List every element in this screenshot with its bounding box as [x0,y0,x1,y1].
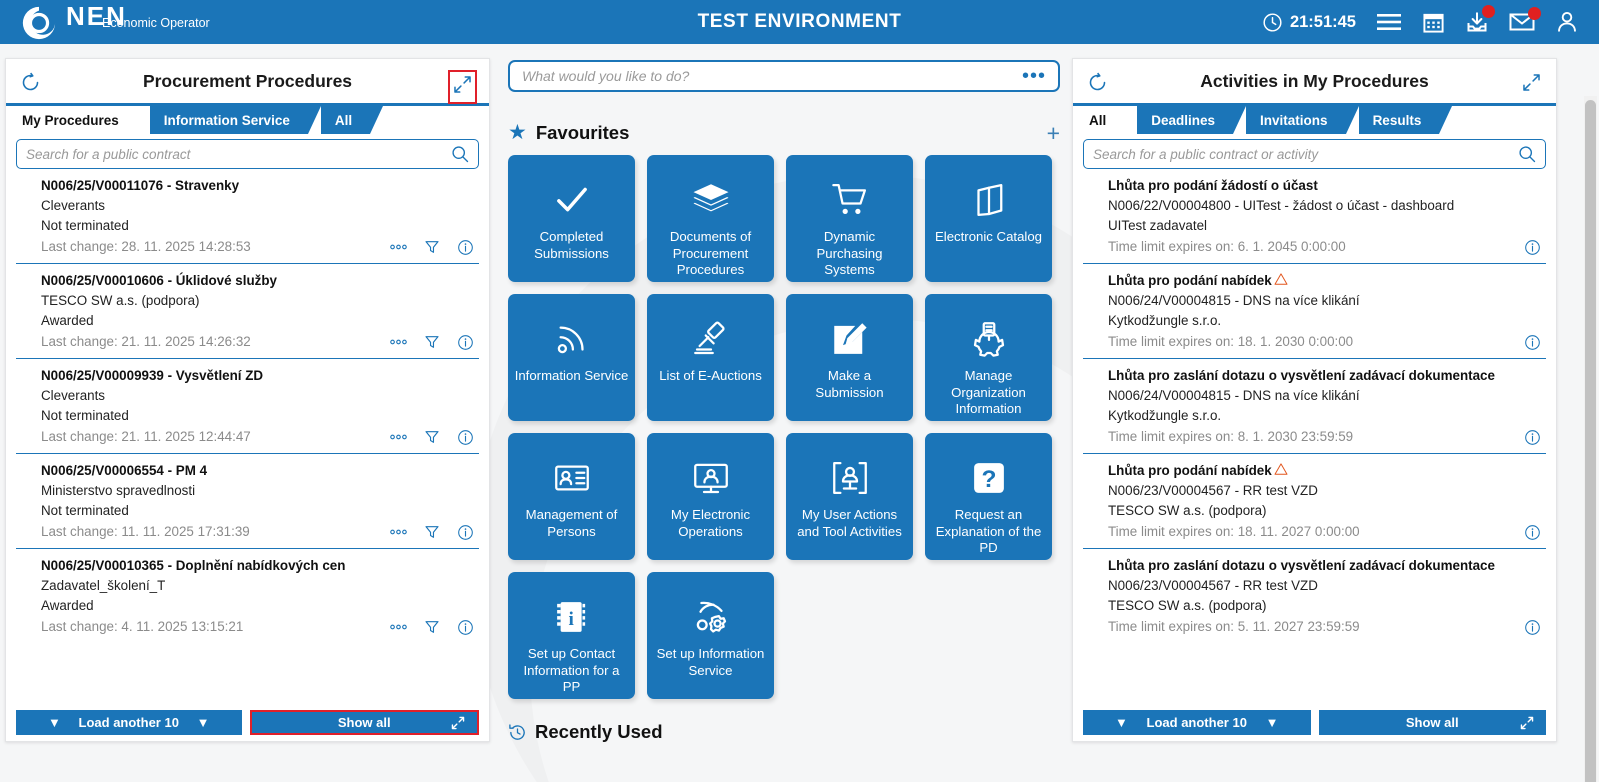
procurement-list-item[interactable]: N006/25/V00006554 - PM 4Ministerstvo spr… [16,454,479,549]
monitor-user-icon [690,455,732,501]
tab-label: My Procedures [22,113,119,128]
recently-used-title: Recently Used [535,721,663,743]
activity-contract: N006/23/V00004567 - RR test VZD [1083,481,1546,501]
refresh-icon [1087,72,1108,93]
activity-title: Lhůta pro zaslání dotazu o vysvětlení za… [1108,558,1495,573]
left-panel-tabs: My Procedures Information Service All [6,106,489,134]
favourite-tile-label: Set up Contact Information for a PP [508,646,635,696]
activity-title-row: Lhůta pro zaslání dotazu o vysvětlení za… [1083,366,1546,386]
row-filter-icon[interactable] [424,429,440,445]
feed-gear-icon [690,594,732,640]
row-more-actions-icon[interactable] [390,337,407,347]
favourite-tile[interactable]: Manage Organization Information [925,294,1052,421]
row-info-icon[interactable] [1524,334,1541,351]
more-options-button[interactable]: ••• [1010,71,1058,81]
show-all-label: Show all [1406,715,1459,730]
procurement-list-item[interactable]: N006/25/V00010606 - Úklidové službyTESCO… [16,264,479,359]
left-search-box[interactable] [16,139,479,169]
user-profile-button[interactable] [1555,10,1579,34]
brand-logo-area[interactable]: NEN Economic Operator [0,0,174,44]
tab-label: Deadlines [1151,113,1215,128]
refresh-button[interactable] [1087,72,1108,98]
activity-title: Lhůta pro podání žádostí o účast [1108,178,1318,193]
tab-all[interactable]: All [1073,106,1124,134]
activity-contract: N006/24/V00004815 - DNS na více klikání [1083,386,1546,406]
procedure-organization: Cleverants [16,196,479,216]
procedure-title: N006/25/V00011076 - Stravenky [16,176,479,196]
rss-feed-icon [551,316,593,362]
favourite-tile[interactable]: My Electronic Operations [647,433,774,560]
right-panel-tabs: All Deadlines Invitations Results [1073,106,1556,134]
favourite-tile-label: Manage Organization Information [925,368,1052,418]
favourite-tile[interactable]: Management of Persons [508,433,635,560]
activity-title: Lhůta pro podání nabídek [1108,273,1272,288]
activity-time-limit: Time limit expires on: 8. 1. 2030 23:59:… [1108,426,1353,448]
favourite-tile-label: List of E-Auctions [653,368,768,385]
procedure-last-change: Last change: 11. 11. 2025 17:31:39 [41,521,250,543]
hamburger-menu-button[interactable] [1376,12,1402,32]
favourite-tile-label: Completed Submissions [508,229,635,262]
favourite-tile-label: Make a Submission [786,368,913,401]
tab-label: Results [1373,113,1422,128]
monitor-person-icon [829,455,871,501]
favourite-tile-label: Request an Explanation of the PD [925,507,1052,557]
command-search-input[interactable] [510,63,1010,89]
global-command-search[interactable]: ••• [508,60,1060,92]
warning-triangle-icon [1272,273,1288,288]
procurement-list-item[interactable]: N006/25/V00011076 - StravenkyCleverantsN… [16,169,479,264]
expand-arrows-icon [453,75,472,94]
activity-contract: N006/23/V00004567 - RR test VZD [1083,576,1546,596]
row-more-actions-icon[interactable] [390,432,407,442]
activity-list-item[interactable]: Lhůta pro zaslání dotazu o vysvětlení za… [1083,549,1546,643]
favourites-title: Favourites [536,122,630,144]
activity-organization: TESCO SW a.s. (podpora) [1083,596,1546,616]
recently-used-header: Recently Used [508,721,1060,743]
row-filter-icon[interactable] [424,334,440,350]
messages-notification-badge [1528,7,1541,20]
row-more-actions-icon[interactable] [390,527,407,537]
page-body: Procurement Procedures My Procedures Inf… [0,44,1599,782]
procurement-list: N006/25/V00011076 - StravenkyCleverantsN… [6,169,489,643]
procurement-list-item[interactable]: N006/25/V00010365 - Doplnění nabídkových… [16,549,479,643]
activity-list-item[interactable]: Lhůta pro podání nabídekN006/24/V0000481… [1083,264,1546,359]
refresh-icon [20,72,41,93]
tab-information-service[interactable]: Information Service [150,106,308,134]
left-panel-footer: ▼ Load another 10 ▼ Show all [16,710,479,735]
favourite-tile-label: Documents of Procurement Procedures [647,229,774,279]
favourite-tile[interactable]: iSet up Contact Information for a PP [508,572,635,699]
favourite-tile-label: Management of Persons [508,507,635,540]
load-more-button[interactable]: ▼ Load another 10 ▼ [16,710,242,735]
activity-title-row: Lhůta pro podání žádostí o účast [1083,176,1546,196]
procedure-last-change: Last change: 21. 11. 2025 12:44:47 [41,426,251,448]
favourite-tile-label: Dynamic Purchasing Systems [786,229,913,279]
scrollbar-thumb[interactable] [1585,100,1596,782]
procedure-title: N006/25/V00009939 - Vysvětlení ZD [16,366,479,386]
activity-time-limit: Time limit expires on: 18. 11. 2027 0:00… [1108,521,1360,543]
check-icon [551,177,593,223]
procedure-title: N006/25/V00006554 - PM 4 [16,461,479,481]
svg-text:i: i [568,609,574,630]
search-input[interactable] [17,141,442,167]
show-all-button[interactable]: Show all [250,710,480,735]
org-gear-icon [968,316,1010,362]
activity-list-item[interactable]: Lhůta pro podání žádostí o účastN006/22/… [1083,169,1546,264]
procurement-procedures-panel: Procurement Procedures My Procedures Inf… [5,58,490,742]
warning-triangle-icon [1272,463,1288,478]
open-book-icon [968,177,1010,223]
favourite-tile[interactable]: ?Request an Explanation of the PD [925,433,1052,560]
row-filter-icon[interactable] [424,524,440,540]
hamburger-menu-icon [1376,12,1402,32]
expand-arrows-icon [1520,716,1534,730]
tab-label: All [335,113,352,128]
clock-icon [1262,12,1283,33]
brand-subtitle: Economic Operator [102,16,210,30]
refresh-button[interactable] [20,72,41,98]
question-mark-icon: ? [968,455,1010,501]
procedure-last-change: Last change: 28. 11. 2025 14:28:53 [41,236,251,258]
inbox-download-button[interactable] [1465,10,1489,34]
procedure-status: Not terminated [16,501,479,521]
row-info-icon[interactable] [457,239,474,256]
procedure-last-change: Last change: 4. 11. 2025 13:15:21 [41,616,243,638]
page-scrollbar[interactable] [1584,96,1597,782]
id-card-icon [551,455,593,501]
tab-all[interactable]: All [321,106,370,134]
left-panel-expand-button[interactable] [448,70,477,104]
layers-icon [690,177,732,223]
activity-contract: N006/24/V00004815 - DNS na více klikání [1083,291,1546,311]
favourite-tile[interactable]: Completed Submissions [508,155,635,282]
favourite-tile-label: My Electronic Operations [647,507,774,540]
row-filter-icon[interactable] [424,239,440,255]
tab-label: Invitations [1260,113,1328,128]
activity-list-item[interactable]: Lhůta pro zaslání dotazu o vysvětlení za… [1083,359,1546,454]
calendar-icon [1422,11,1445,34]
favourites-header: ★ Favourites + [508,120,1060,145]
activity-organization: Kytkodžungle s.r.o. [1083,406,1546,426]
activity-organization: Kytkodžungle s.r.o. [1083,311,1546,331]
row-filter-icon[interactable] [424,619,440,635]
procedure-status: Not terminated [16,216,479,236]
favourite-tile[interactable]: Documents of Procurement Procedures [647,155,774,282]
favourite-tile-label: My User Actions and Tool Activities [786,507,913,540]
favourite-tile[interactable]: List of E-Auctions [647,294,774,421]
search-icon [451,145,469,163]
messages-button[interactable] [1509,12,1535,32]
activity-organization: UITest zadavatel [1083,216,1546,236]
search-submit-button[interactable] [442,145,478,163]
favourite-tile[interactable]: Information Service [508,294,635,421]
favourite-tile-label: Information Service [509,368,635,385]
activities-panel: Activities in My Procedures All Deadline… [1072,58,1557,742]
caret-down-icon: ▼ [1115,715,1128,730]
right-panel-expand-button[interactable] [1519,70,1544,100]
right-panel-footer: ▼ Load another 10 ▼ Show all [1083,710,1546,735]
activity-time-limit: Time limit expires on: 6. 1. 2045 0:00:0… [1108,236,1346,258]
right-panel-header: Activities in My Procedures [1073,59,1556,106]
caret-down-icon: ▼ [48,715,61,730]
procedure-last-change: Last change: 21. 11. 2025 14:26:32 [41,331,251,353]
tab-deadlines[interactable]: Deadlines [1137,106,1233,134]
gavel-icon [690,316,732,362]
svg-text:?: ? [981,466,996,493]
calendar-button[interactable] [1422,11,1445,34]
favourite-tile[interactable]: Set up Information Service [647,572,774,699]
show-all-label: Show all [338,715,391,730]
expand-arrows-icon [451,716,465,730]
activity-title: Lhůta pro podání nabídek [1108,463,1272,478]
procedure-organization: Cleverants [16,386,479,406]
activity-time-limit: Time limit expires on: 5. 11. 2027 23:59… [1108,616,1360,638]
favourite-tile[interactable]: Make a Submission [786,294,913,421]
activity-contract: N006/22/V00004800 - UITest - žádost o úč… [1083,196,1546,216]
center-column: ••• ★ Favourites + Completed Submissions… [498,44,1068,782]
procedure-organization: Zadavatel_školení_T [16,576,479,596]
nen-logo-icon [20,4,58,42]
load-more-button[interactable]: ▼ Load another 10 ▼ [1083,710,1311,735]
left-panel-header: Procurement Procedures [6,59,489,106]
favourite-tile[interactable]: My User Actions and Tool Activities [786,433,913,560]
favourites-tiles: Completed SubmissionsDocuments of Procur… [498,155,1068,699]
row-info-icon[interactable] [457,619,474,636]
history-clock-icon [508,723,527,742]
caret-down-icon: ▼ [197,715,210,730]
tab-my-procedures[interactable]: My Procedures [6,106,137,134]
top-bar: NEN Economic Operator TEST ENVIRONMENT 2… [0,0,1599,44]
favourite-tile[interactable]: Dynamic Purchasing Systems [786,155,913,282]
procedure-title: N006/25/V00010365 - Doplnění nabídkových… [16,556,479,576]
clock-display: 21:51:45 [1262,12,1356,33]
activity-list-item[interactable]: Lhůta pro podání nabídekN006/23/V0000456… [1083,454,1546,549]
activity-time-limit: Time limit expires on: 18. 1. 2030 0:00:… [1108,331,1353,353]
row-more-actions-icon[interactable] [390,242,407,252]
activities-list: Lhůta pro podání žádostí o účastN006/22/… [1073,169,1556,643]
star-icon: ★ [508,120,527,145]
clock-time: 21:51:45 [1290,13,1356,32]
procedure-status: Awarded [16,596,479,616]
right-panel-title: Activities in My Procedures [1200,71,1429,92]
load-more-label: Load another 10 [79,715,179,730]
search-input[interactable] [1084,141,1509,167]
show-all-button[interactable]: Show all [1319,710,1547,735]
tab-results[interactable]: Results [1359,106,1440,134]
tab-label: Information Service [164,113,290,128]
row-info-icon[interactable] [1524,619,1541,636]
row-info-icon[interactable] [1524,239,1541,256]
activity-title: Lhůta pro zaslání dotazu o vysvětlení za… [1108,368,1495,383]
shopping-cart-icon [829,177,871,223]
edit-pencil-icon [829,316,871,362]
search-submit-button[interactable] [1509,145,1545,163]
activity-organization: TESCO SW a.s. (podpora) [1083,501,1546,521]
row-info-icon[interactable] [457,429,474,446]
load-more-label: Load another 10 [1147,715,1247,730]
right-search-box[interactable] [1083,139,1546,169]
expand-arrows-icon [1522,73,1541,92]
tab-label: All [1089,113,1106,128]
favourite-tile[interactable]: Electronic Catalog [925,155,1052,282]
activity-title-row: Lhůta pro podání nabídek [1083,461,1546,481]
inbox-notification-badge [1482,5,1495,18]
procedure-status: Awarded [16,311,479,331]
add-favourite-button[interactable]: + [1047,124,1060,142]
favourite-tile-label: Electronic Catalog [929,229,1048,246]
procedure-status: Not terminated [16,406,479,426]
caret-down-icon: ▼ [1266,715,1279,730]
procedure-organization: Ministerstvo spravedlnosti [16,481,479,501]
row-more-actions-icon[interactable] [390,622,407,632]
row-info-icon[interactable] [457,334,474,351]
top-bar-actions: 21:51:45 [1262,10,1599,34]
user-profile-icon [1555,10,1579,34]
activity-title-row: Lhůta pro zaslání dotazu o vysvětlení za… [1083,556,1546,576]
procedure-title: N006/25/V00010606 - Úklidové služby [16,271,479,291]
search-icon [1518,145,1536,163]
tab-invitations[interactable]: Invitations [1246,106,1346,134]
row-info-icon[interactable] [1524,429,1541,446]
row-info-icon[interactable] [1524,524,1541,541]
row-info-icon[interactable] [457,524,474,541]
procurement-list-item[interactable]: N006/25/V00009939 - Vysvětlení ZDClevera… [16,359,479,454]
activity-title-row: Lhůta pro podání nabídek [1083,271,1546,291]
favourite-tile-label: Set up Information Service [647,646,774,679]
procedure-organization: TESCO SW a.s. (podpora) [16,291,479,311]
left-panel-title: Procurement Procedures [143,71,352,92]
info-book-icon: i [551,594,593,640]
